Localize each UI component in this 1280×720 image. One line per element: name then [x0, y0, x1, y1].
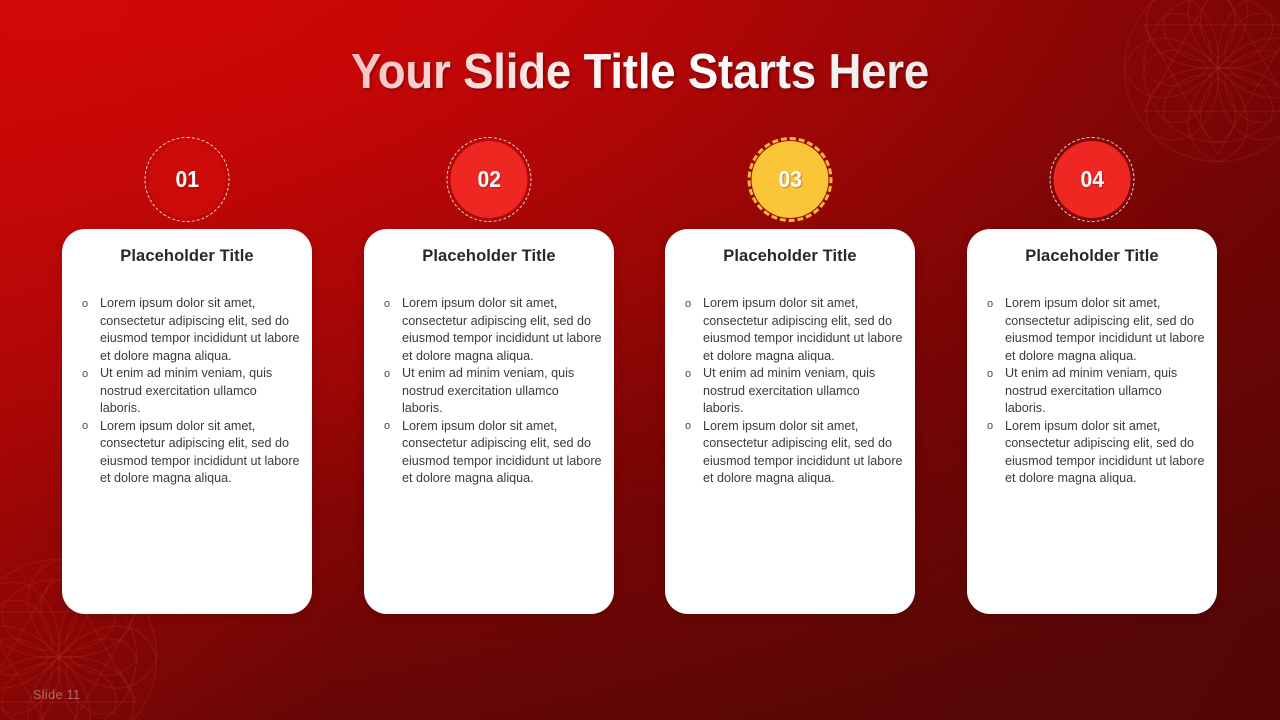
content-card-03[interactable]: Placeholder TitleoLorem ipsum dolor sit … — [665, 229, 915, 614]
slide-canvas: Your Slide Title Starts Here 01Placehold… — [0, 0, 1280, 720]
bullet-text: Lorem ipsum dolor sit amet, consectetur … — [703, 419, 903, 486]
bullet-marker-icon: o — [685, 368, 691, 380]
badge-number: 02 — [477, 166, 501, 193]
bullet-item: oUt enim ad minim veniam, quis nostrud e… — [380, 365, 602, 418]
badge-number: 03 — [778, 166, 802, 193]
bullet-marker-icon: o — [685, 420, 691, 432]
bullet-marker-icon: o — [987, 368, 993, 380]
bullet-item: oLorem ipsum dolor sit amet, consectetur… — [983, 418, 1205, 488]
content-card-04[interactable]: Placeholder TitleoLorem ipsum dolor sit … — [967, 229, 1217, 614]
bullet-text: Ut enim ad minim veniam, quis nostrud ex… — [402, 366, 574, 415]
bullet-item: oLorem ipsum dolor sit amet, consectetur… — [380, 295, 602, 365]
content-card-02[interactable]: Placeholder TitleoLorem ipsum dolor sit … — [364, 229, 614, 614]
column-01: 01Placeholder TitleoLorem ipsum dolor si… — [36, 0, 338, 720]
bullet-item: oUt enim ad minim veniam, quis nostrud e… — [681, 365, 903, 418]
step-badge-01[interactable]: 01 — [145, 137, 230, 222]
bullet-text: Lorem ipsum dolor sit amet, consectetur … — [703, 296, 903, 363]
bullet-marker-icon: o — [987, 298, 993, 310]
slide-number-label: Slide 11 — [33, 688, 80, 702]
bullet-marker-icon: o — [82, 298, 88, 310]
column-04: 04Placeholder TitleoLorem ipsum dolor si… — [941, 0, 1243, 720]
card-title: Placeholder Title — [665, 247, 915, 266]
bullet-marker-icon: o — [384, 420, 390, 432]
step-badge-03[interactable]: 03 — [748, 137, 833, 222]
bullet-text: Ut enim ad minim veniam, quis nostrud ex… — [703, 366, 875, 415]
bullet-item: oLorem ipsum dolor sit amet, consectetur… — [681, 418, 903, 488]
bullet-marker-icon: o — [685, 298, 691, 310]
badge-number: 04 — [1080, 166, 1104, 193]
bullet-list: oLorem ipsum dolor sit amet, consectetur… — [78, 295, 300, 488]
bullet-item: oLorem ipsum dolor sit amet, consectetur… — [681, 295, 903, 365]
bullet-item: oUt enim ad minim veniam, quis nostrud e… — [78, 365, 300, 418]
bullet-text: Lorem ipsum dolor sit amet, consectetur … — [402, 419, 602, 486]
bullet-text: Lorem ipsum dolor sit amet, consectetur … — [1005, 419, 1205, 486]
bullet-text: Lorem ipsum dolor sit amet, consectetur … — [100, 419, 300, 486]
bullet-item: oLorem ipsum dolor sit amet, consectetur… — [78, 418, 300, 488]
bullet-list: oLorem ipsum dolor sit amet, consectetur… — [983, 295, 1205, 488]
bullet-text: Lorem ipsum dolor sit amet, consectetur … — [402, 296, 602, 363]
badge-number: 01 — [175, 166, 199, 193]
column-03: 03Placeholder TitleoLorem ipsum dolor si… — [639, 0, 941, 720]
bullet-marker-icon: o — [384, 368, 390, 380]
bullet-item: oLorem ipsum dolor sit amet, consectetur… — [78, 295, 300, 365]
bullet-marker-icon: o — [82, 368, 88, 380]
card-title: Placeholder Title — [364, 247, 614, 266]
step-badge-04[interactable]: 04 — [1050, 137, 1135, 222]
step-badge-02[interactable]: 02 — [447, 137, 532, 222]
bullet-marker-icon: o — [82, 420, 88, 432]
bullet-marker-icon: o — [987, 420, 993, 432]
bullet-marker-icon: o — [384, 298, 390, 310]
bullet-item: oLorem ipsum dolor sit amet, consectetur… — [983, 295, 1205, 365]
bullet-text: Ut enim ad minim veniam, quis nostrud ex… — [1005, 366, 1177, 415]
bullet-text: Lorem ipsum dolor sit amet, consectetur … — [100, 296, 300, 363]
card-title: Placeholder Title — [62, 247, 312, 266]
card-title: Placeholder Title — [967, 247, 1217, 266]
bullet-list: oLorem ipsum dolor sit amet, consectetur… — [681, 295, 903, 488]
bullet-item: oUt enim ad minim veniam, quis nostrud e… — [983, 365, 1205, 418]
bullet-list: oLorem ipsum dolor sit amet, consectetur… — [380, 295, 602, 488]
bullet-text: Ut enim ad minim veniam, quis nostrud ex… — [100, 366, 272, 415]
column-02: 02Placeholder TitleoLorem ipsum dolor si… — [338, 0, 640, 720]
bullet-item: oLorem ipsum dolor sit amet, consectetur… — [380, 418, 602, 488]
content-card-01[interactable]: Placeholder TitleoLorem ipsum dolor sit … — [62, 229, 312, 614]
bullet-text: Lorem ipsum dolor sit amet, consectetur … — [1005, 296, 1205, 363]
